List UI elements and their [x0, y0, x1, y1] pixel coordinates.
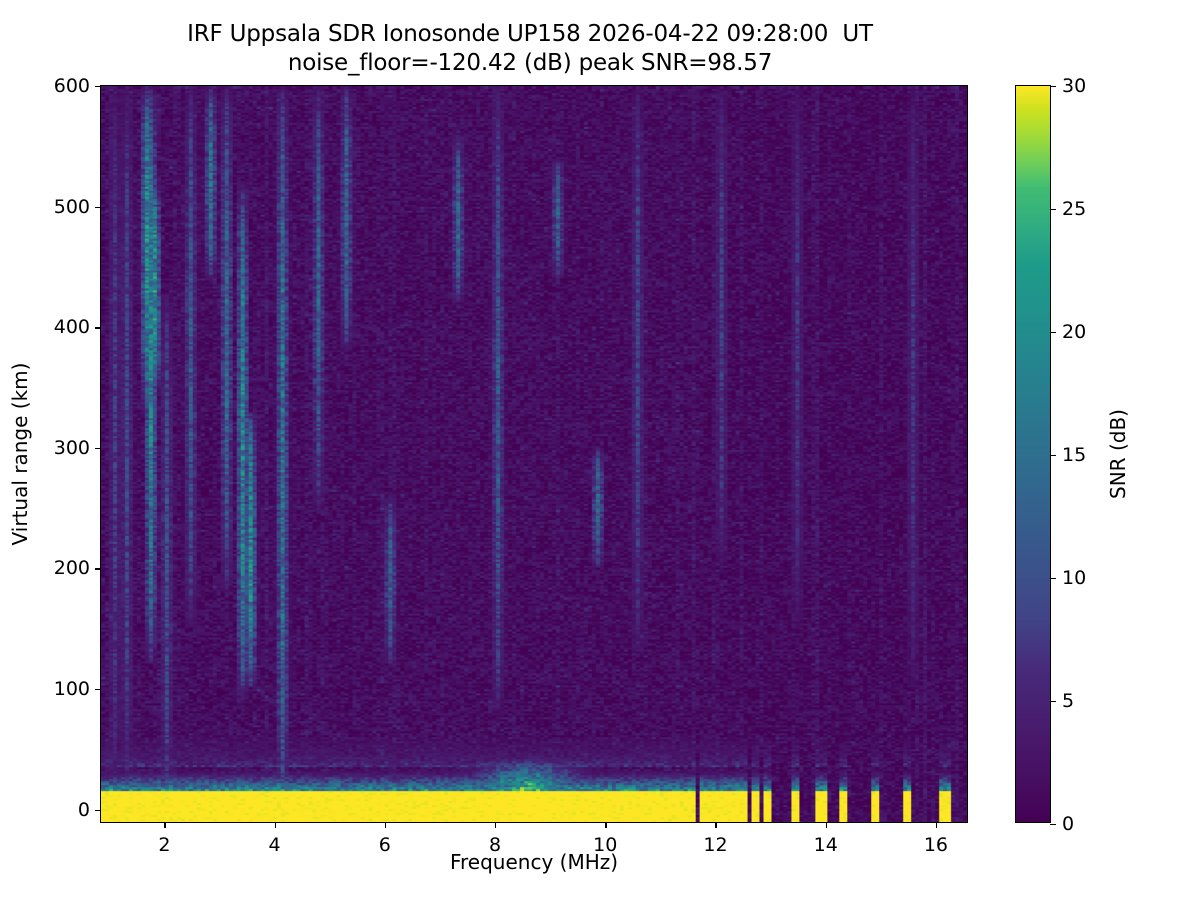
y-tick-mark [95, 207, 101, 208]
x-tick-mark [495, 822, 496, 828]
y-tick-mark [95, 689, 101, 690]
x-tick-mark [936, 822, 937, 828]
colorbar-tick-label: 5 [1062, 690, 1074, 712]
y-tick-label: 500 [54, 196, 90, 218]
x-tick-label: 12 [703, 834, 727, 856]
colorbar-tick-label: 30 [1062, 75, 1086, 97]
x-tick-label: 16 [924, 834, 948, 856]
x-tick-mark [605, 822, 606, 828]
y-tick-mark [95, 327, 101, 328]
colorbar-tick-mark [1050, 578, 1056, 579]
y-tick-label: 100 [54, 678, 90, 700]
colorbar-tick-mark [1050, 209, 1056, 210]
y-tick-mark [95, 810, 101, 811]
y-tick-label: 400 [54, 316, 90, 338]
x-tick-mark [164, 822, 165, 828]
ionogram-heatmap [101, 86, 967, 822]
x-tick-mark [715, 822, 716, 828]
colorbar-tick-mark [1050, 455, 1056, 456]
x-tick-mark [275, 822, 276, 828]
y-tick-mark [95, 568, 101, 569]
title-line-2: noise_floor=-120.42 (dB) peak SNR=98.57 [0, 49, 1060, 78]
x-tick-label: 4 [269, 834, 281, 856]
plot-axes: 0100200300400500600 246810121416 [100, 85, 968, 823]
x-axis-label: Frequency (MHz) [450, 850, 618, 874]
y-tick-mark [95, 86, 101, 87]
colorbar-tick-label: 10 [1062, 567, 1086, 589]
colorbar-tick-mark [1050, 824, 1056, 825]
colorbar-tick-mark [1050, 332, 1056, 333]
y-tick-label: 200 [54, 557, 90, 579]
title-line-1: IRF Uppsala SDR Ionosonde UP158 2026-04-… [0, 20, 1060, 49]
colorbar-tick-mark [1050, 86, 1056, 87]
y-tick-label: 0 [78, 799, 90, 821]
y-axis-label: Virtual range (km) [8, 363, 32, 546]
colorbar-tick-label: 15 [1062, 444, 1086, 466]
x-tick-label: 6 [379, 834, 391, 856]
x-tick-mark [385, 822, 386, 828]
figure-title: IRF Uppsala SDR Ionosonde UP158 2026-04-… [0, 20, 1060, 79]
colorbar-tick-label: 20 [1062, 321, 1086, 343]
x-tick-mark [826, 822, 827, 828]
x-tick-label: 2 [158, 834, 170, 856]
y-tick-label: 300 [54, 437, 90, 459]
colorbar-gradient [1016, 86, 1050, 822]
y-tick-mark [95, 448, 101, 449]
colorbar: 051015202530 [1015, 85, 1051, 823]
x-tick-label: 14 [814, 834, 838, 856]
ionogram-figure: IRF Uppsala SDR Ionosonde UP158 2026-04-… [0, 0, 1200, 900]
y-tick-label: 600 [54, 75, 90, 97]
colorbar-tick-mark [1050, 701, 1056, 702]
colorbar-label: SNR (dB) [1106, 409, 1130, 499]
colorbar-tick-label: 25 [1062, 198, 1086, 220]
colorbar-tick-label: 0 [1062, 813, 1074, 835]
